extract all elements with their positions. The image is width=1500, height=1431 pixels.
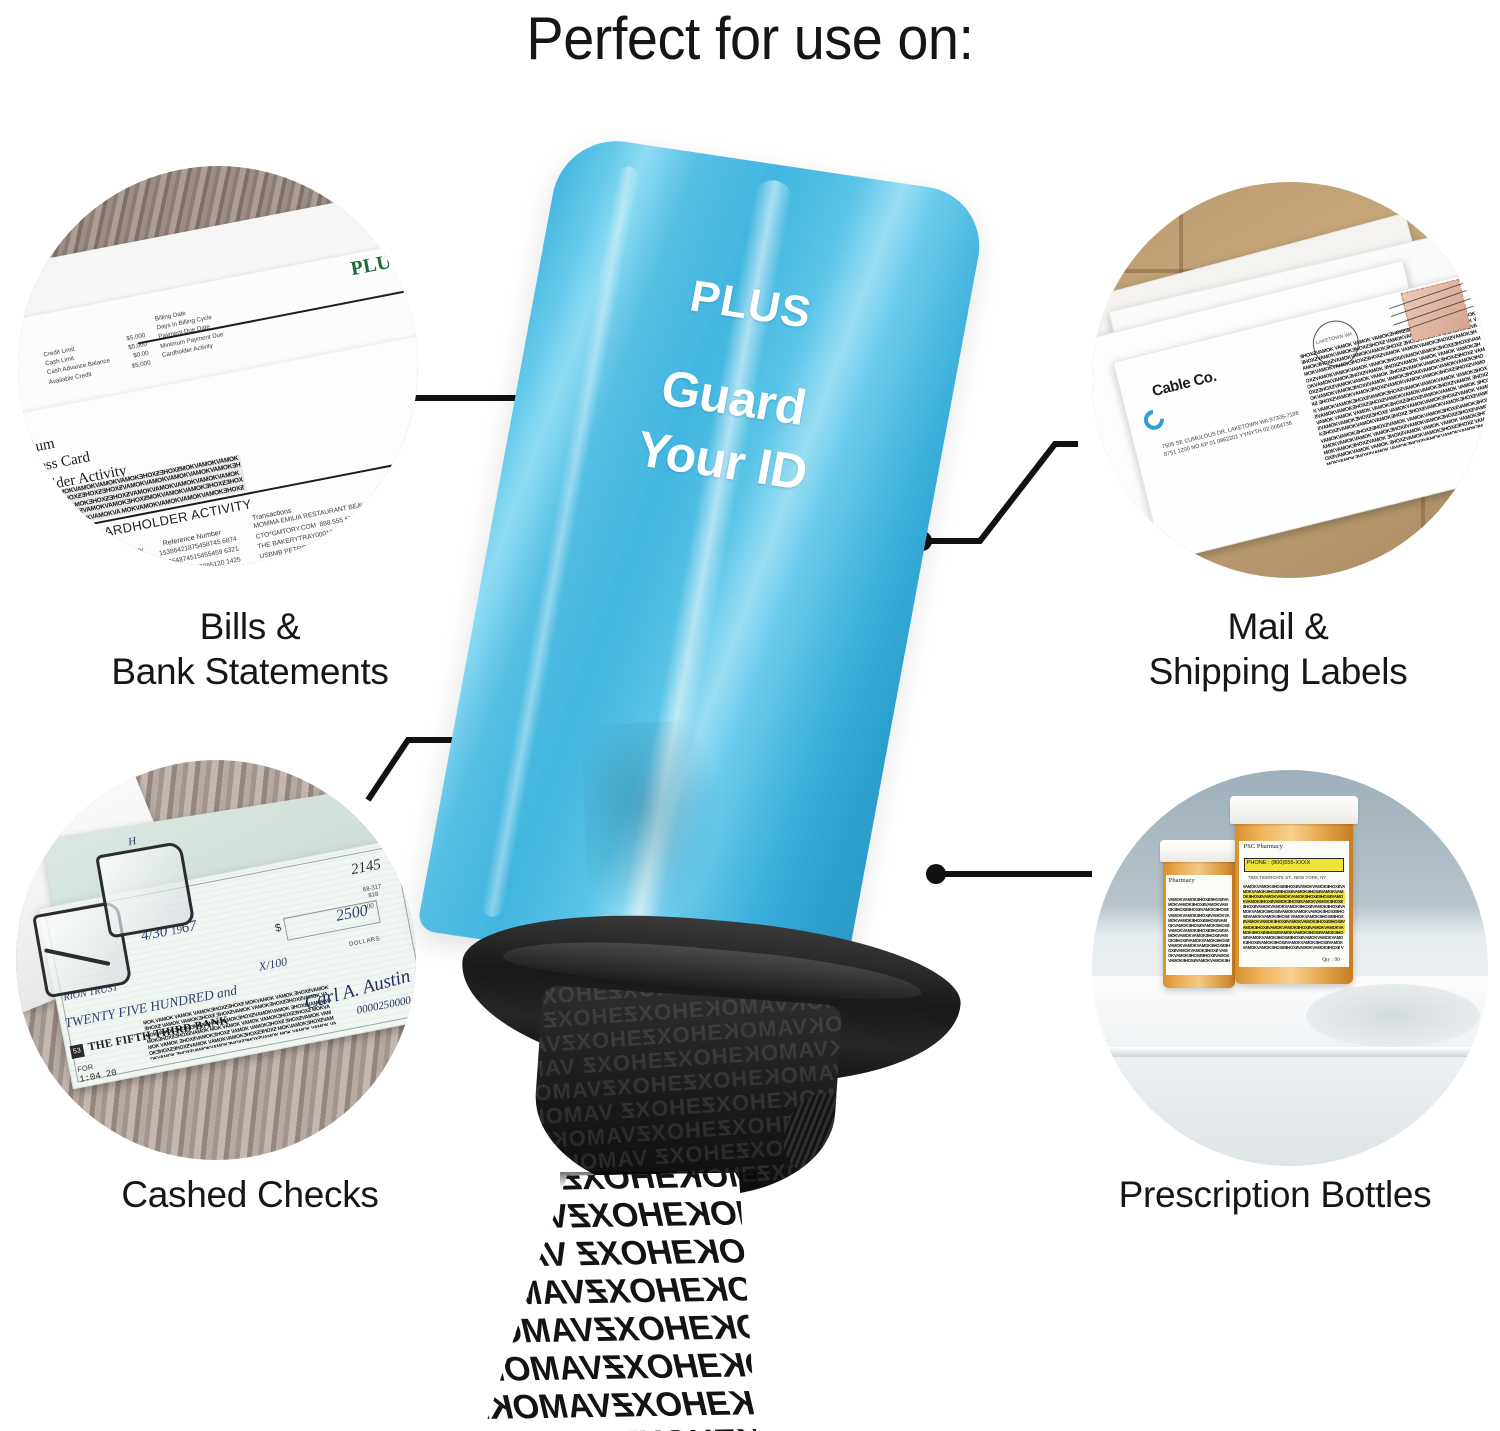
cable-co-logo-icon xyxy=(1140,405,1168,433)
pharmacy-qty: Qty : 90 xyxy=(1322,957,1340,963)
pill-bottle-cap-small xyxy=(1160,840,1237,862)
redacted-block-bottle-small: VAMOKVAMOKƎHOXƵƎHOXƵVAMOKVAMOKƎHOXƵVAMOK… xyxy=(1168,897,1230,963)
transactions-column: MOMMA EMILIA RESTAURANT BEAV OR CTO*GMTO… xyxy=(253,493,418,566)
photo-bills-bank-statements: PLUS Bank Billing DateDays in Billing Cy… xyxy=(18,166,418,566)
tape-pattern-texture: VAMOKƎHOXƵVAMOKƎHOXƵVAMOKƎHOXƵVAMOKƎHOXƵ… xyxy=(429,1172,766,1431)
infographic-canvas: Perfect for use on: PLUS Bank Billing Da… xyxy=(0,0,1500,1431)
pill-bottle-small: Pharmacy VAMOKVAMOKƎHOXƵƎHOXƵVAMOKVAMOKƎ… xyxy=(1163,857,1234,988)
mail-address-block: 7505 SE CUMULOUS DR, LAKETOWN WA 97305-7… xyxy=(1161,409,1301,459)
check-routing-fraction: 68-317 818 xyxy=(386,807,405,823)
pharmacy-label-large: PSC Pharmacy PHONE : (800)555-XXXX 7828 … xyxy=(1239,841,1348,967)
bank-logo-icon: 53 xyxy=(69,1044,84,1059)
pharmacy-name-small: Pharmacy xyxy=(1169,877,1195,884)
pill-bottle-cap-large xyxy=(1230,796,1358,824)
pill-bottle-large: PSC Pharmacy PHONE : (800)555-XXXX 7828 … xyxy=(1235,818,1354,984)
caption-bills-bank-statements: Bills & Bank Statements xyxy=(30,604,470,694)
stamp-grip-dent xyxy=(582,718,735,936)
page-title: Perfect for use on: xyxy=(53,4,1448,73)
eyeglass-lens-right xyxy=(95,840,196,937)
sink-basin xyxy=(1306,984,1480,1047)
guard-your-id-roller-stamp: PLUS Guard Your ID VAMOKVAMOKƎHOXƵƎHOXƵV… xyxy=(430,150,1030,1431)
photo-prescription-bottles: Pharmacy VAMOKVAMOKƎHOXƵƎHOXƵVAMOKVAMOKƎ… xyxy=(1092,770,1488,1166)
caption-cashed-checks: Cashed Checks xyxy=(30,1172,470,1217)
printed-obfuscation-tape: VAMOKƎHOXƵVAMOKƎHOXƵVAMOKƎHOXƵVAMOKƎHOXƵ… xyxy=(429,1172,766,1431)
pharmacy-phone: PHONE : (800)555-XXXX xyxy=(1244,858,1345,872)
caption-prescription-bottles: Prescription Bottles xyxy=(1060,1172,1490,1217)
pharmacy-address: 7828 TIGERGATE ST., NEW YORK, NY xyxy=(1248,875,1326,880)
pharmacy-label-small: Pharmacy VAMOKVAMOKƎHOXƵƎHOXƵVAMOKVAMOKƎ… xyxy=(1166,875,1232,974)
cable-co-name: Cable Co. xyxy=(1150,367,1218,399)
redacted-block-bottle-large: VAMOKVAMOKƎHOXƵƎHOXƵVAMOKVAMOKƎHOXƵVAMOK… xyxy=(1243,884,1346,950)
counter-edge xyxy=(1092,1047,1488,1057)
stamp-body: PLUS Guard Your ID xyxy=(417,133,990,993)
caption-mail-shipping-labels: Mail & Shipping Labels xyxy=(1068,604,1488,694)
photo-cashed-checks: 490 68-317 818 H MOK VAMOK VAMOK VAMOKƎH… xyxy=(16,760,416,1160)
photo-mail-shipping-labels: Cable Co. 7505 SE CUMULOUS DR, LAKETOWN … xyxy=(1092,182,1488,578)
pharmacy-name-large: PSC Pharmacy xyxy=(1244,843,1283,850)
